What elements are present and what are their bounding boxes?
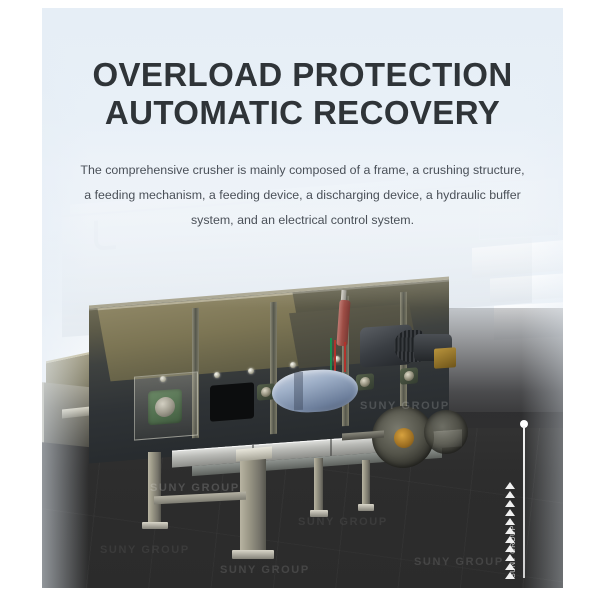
page-description: The comprehensive crusher is mainly comp… [42, 132, 563, 233]
scale-tick [505, 482, 515, 489]
page-title: OVERLOAD PROTECTION AUTOMATIC RECOVERY [42, 8, 563, 132]
leg-foot [232, 550, 274, 559]
scale-tick [505, 509, 515, 516]
scale-tick [505, 491, 515, 498]
scale-tick [505, 518, 515, 525]
scale-tick [505, 500, 515, 507]
discharge-opening [210, 382, 254, 422]
leg-foot [310, 510, 328, 517]
leg-foot [142, 522, 168, 529]
wheel-rear [424, 410, 468, 454]
chassis-seam [330, 439, 332, 456]
wire-red [344, 342, 346, 372]
bolt [290, 362, 296, 368]
bolt [214, 372, 220, 378]
page-title-line-2: AUTOMATIC RECOVERY [42, 94, 563, 132]
support-leg [362, 460, 370, 506]
pillow-block-bearing [356, 373, 374, 390]
promo-banner: SUNY GROUP SUNY GROUP SUNY GROUP SUNY GR… [42, 8, 563, 588]
leg-foot [358, 504, 374, 511]
trough-rib [270, 302, 277, 435]
bolt [248, 368, 254, 374]
wheel-hub [394, 428, 414, 448]
leg-cross-brace [154, 492, 246, 505]
wire-green [330, 338, 332, 374]
tail-fitting [434, 347, 456, 369]
pillow-block-bearing [400, 367, 418, 384]
scale-line [523, 426, 525, 578]
support-leg [314, 458, 323, 512]
banner-text-block: OVERLOAD PROTECTION AUTOMATIC RECOVERY T… [42, 8, 563, 233]
bearing-mount-plate [134, 371, 198, 440]
banner-page: SUNY GROUP SUNY GROUP SUNY GROUP SUNY GR… [0, 0, 600, 600]
wire-red [334, 340, 336, 374]
tank-strap [294, 372, 303, 410]
support-leg [240, 456, 266, 552]
scale-marker: SUNY GROUP [501, 420, 541, 580]
page-title-line-1: OVERLOAD PROTECTION [42, 56, 563, 94]
support-leg [148, 452, 161, 524]
scale-label: SUNY GROUP [510, 525, 517, 578]
